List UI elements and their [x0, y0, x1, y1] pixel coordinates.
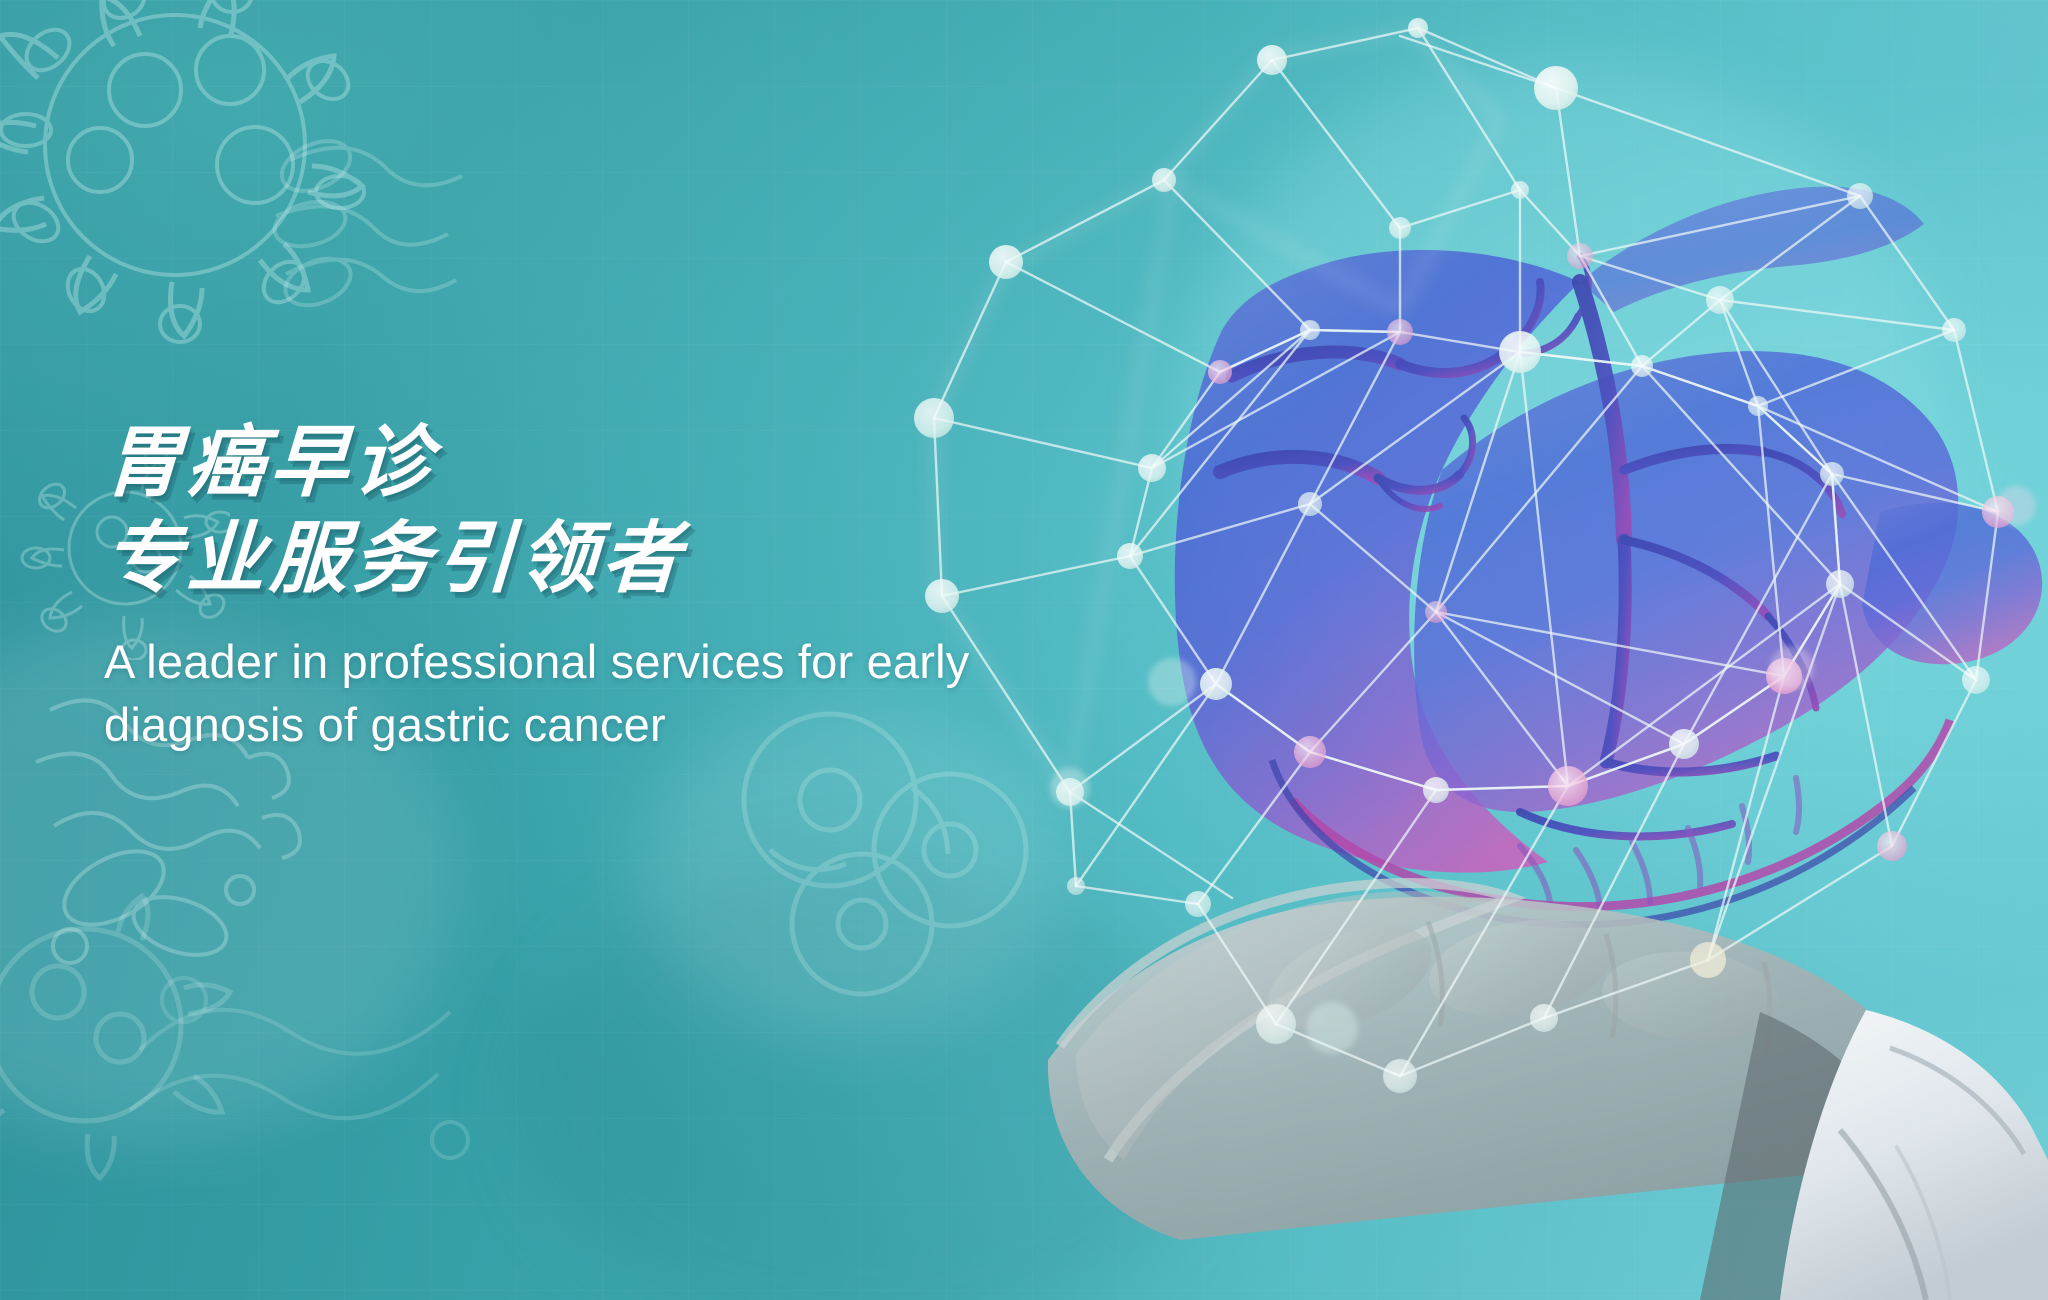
headline-line-2: 专业服务引领者 — [102, 516, 1026, 600]
subtitle-line-2: diagnosis of gastric cancer — [104, 693, 1024, 756]
filament-squiggle-icon — [120, 930, 540, 1190]
bacteria-rods-icon — [270, 120, 530, 360]
hero-copy: 胃癌早诊 专业服务引领者 A leader in professional se… — [104, 420, 1024, 756]
virus-particle-corner-icon — [0, 860, 250, 1190]
hero-banner: 胃癌早诊 专业服务引领者 A leader in professional se… — [0, 0, 2048, 1300]
virus-particle-icon — [0, 0, 410, 370]
stomach-illustration — [880, 0, 2048, 1300]
open-palm-hand — [1048, 883, 2048, 1300]
headline-line-1: 胃癌早诊 — [102, 420, 1026, 504]
stomach-organ — [1175, 187, 2042, 925]
subtitle-line-1: A leader in professional services for ea… — [104, 630, 1024, 693]
